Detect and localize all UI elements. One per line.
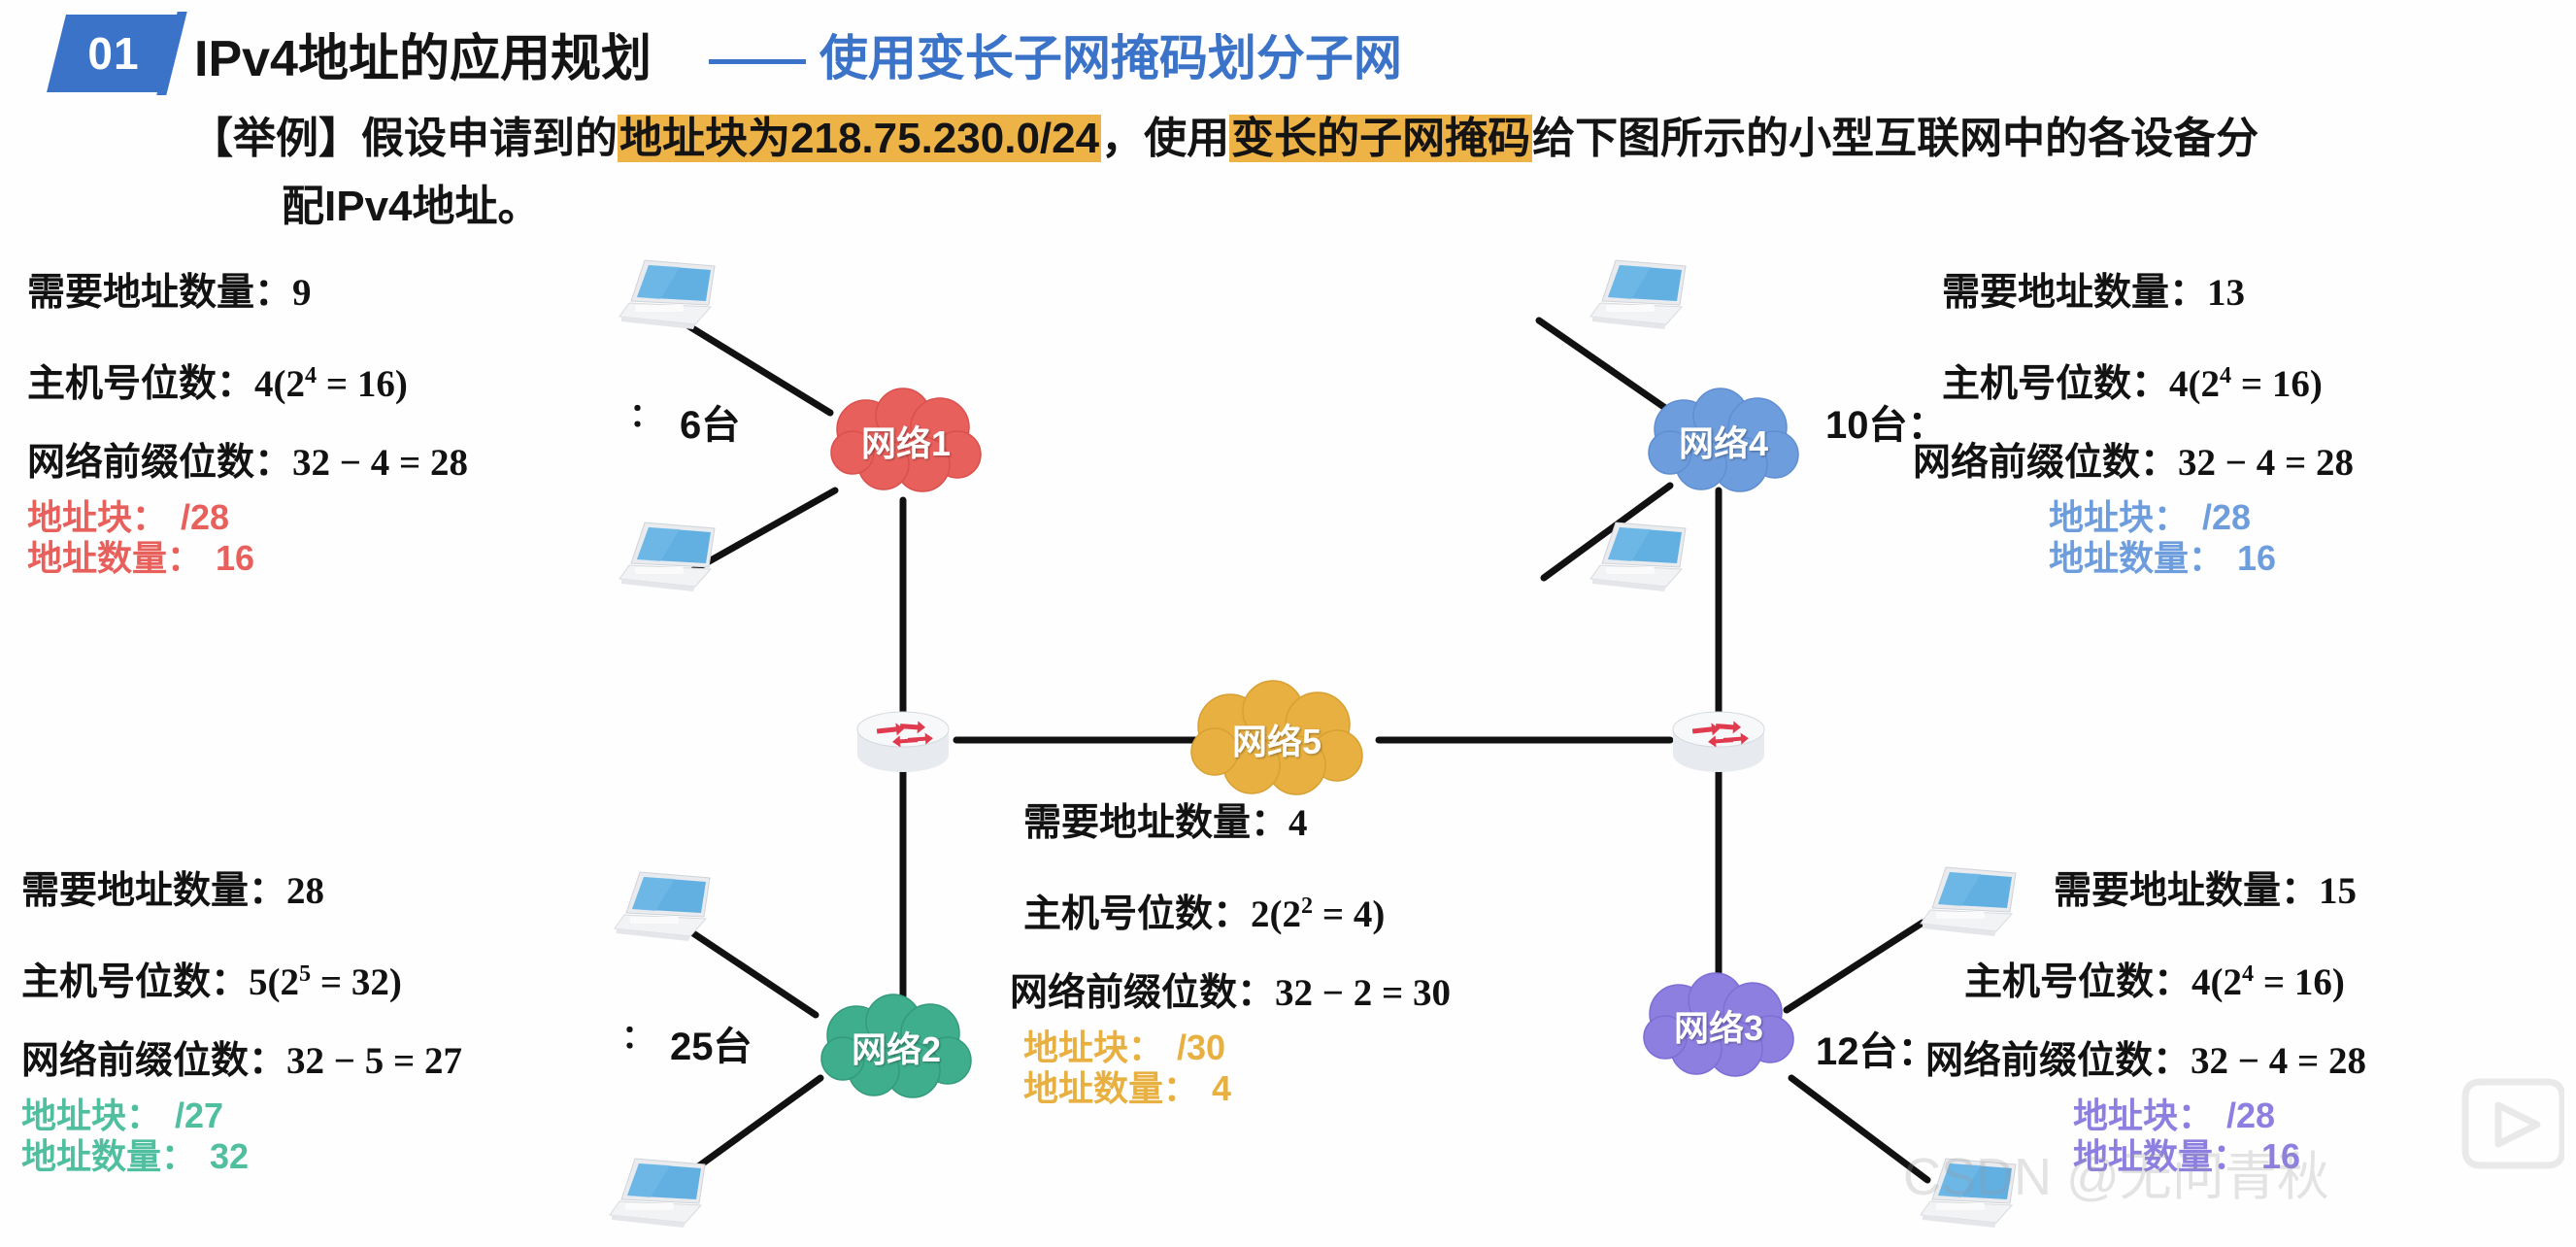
colon-marker-net2: ： xyxy=(621,1010,654,1058)
address-block-group: 地址块：/28 地址数量：16 xyxy=(27,497,468,579)
prefixbits-row: 网络前缀位数：32 − 5 = 27 xyxy=(21,1042,462,1080)
laptop-icon xyxy=(602,505,726,598)
prefixbits-value: 32 − 4 = 28 xyxy=(2191,1040,2366,1082)
network-cloud-label: 网络1 xyxy=(823,387,988,495)
address-block-group: 地址块：/30 地址数量：4 xyxy=(1023,1028,1451,1109)
need-value: 9 xyxy=(292,272,312,314)
host-count-net2: 25台 xyxy=(670,1015,753,1071)
need-label: 需要地址数量： xyxy=(1023,802,1288,844)
address-block-label: 地址块： xyxy=(2073,1095,2213,1135)
hostbits-label: 主机号位数： xyxy=(27,363,254,405)
laptop-icon xyxy=(597,855,721,948)
address-count-row: 地址数量：4 xyxy=(1023,1068,1451,1109)
need-value: 4 xyxy=(1288,802,1308,844)
address-count-value: 16 xyxy=(216,538,254,578)
hostbits-value: 4(2 xyxy=(254,363,305,405)
prefixbits-row: 网络前缀位数：32 − 4 = 28 xyxy=(1913,444,2354,482)
address-count-row: 地址数量：16 xyxy=(2049,538,2354,579)
network-cloud-label: 网络2 xyxy=(814,993,979,1101)
laptop-icon xyxy=(592,1141,717,1234)
prefixbits-value: 32 − 4 = 28 xyxy=(292,442,468,484)
hostbits-equation: = 16) xyxy=(2254,961,2345,1003)
need-label: 需要地址数量： xyxy=(27,272,292,314)
hostbits-value: 2(2 xyxy=(1251,893,1301,935)
address-count-value: 32 xyxy=(210,1136,249,1176)
address-count-label: 地址数量： xyxy=(27,538,202,578)
hostbits-row: 主机号位数：5(25 = 32) xyxy=(21,962,462,1001)
prefixbits-label: 网络前缀位数： xyxy=(1010,972,1275,1014)
need-label: 需要地址数量： xyxy=(21,870,286,912)
address-block-row: 地址块：/28 xyxy=(2049,497,2354,538)
need-label: 需要地址数量： xyxy=(1942,272,2207,314)
slide-header: 01 IPv4地址的应用规划 —— 使用变长子网掩码划分子网 xyxy=(0,0,2576,105)
prefixbits-value: 32 − 4 = 28 xyxy=(2178,442,2354,484)
example-highlight-vlsm: 变长的子网掩码 xyxy=(1229,115,1532,162)
router-icon xyxy=(850,706,956,776)
need-row: 需要地址数量：13 xyxy=(1942,274,2354,312)
laptop-icon xyxy=(602,243,726,336)
hostbits-equation: = 16) xyxy=(2231,363,2323,405)
network-cloud-label: 网络4 xyxy=(1641,387,1806,495)
watermark-text: CSDN @无问青秋 xyxy=(1903,1133,2329,1210)
host-count-net4: 10台： xyxy=(1825,393,1947,450)
network-cloud-net5: 网络5 xyxy=(1180,680,1374,798)
hostbits-exponent: 4 xyxy=(2242,961,2254,987)
example-prefix: 【举例】假设申请到的 xyxy=(190,115,618,162)
laptop-icon xyxy=(1573,243,1697,336)
hostbits-label: 主机号位数： xyxy=(1942,363,2169,405)
hostbits-exponent: 2 xyxy=(1301,893,1313,919)
hostbits-row: 主机号位数：2(22 = 4) xyxy=(1023,894,1451,933)
hostbits-value: 4(2 xyxy=(2191,961,2242,1003)
network-cloud-label: 网络5 xyxy=(1180,680,1374,798)
prefixbits-value: 32 − 2 = 30 xyxy=(1275,972,1451,1014)
need-row: 需要地址数量：4 xyxy=(1023,804,1451,842)
hostbits-row: 主机号位数：4(24 = 16) xyxy=(1942,364,2354,403)
address-block-label: 地址块： xyxy=(2049,497,2189,537)
router-icon xyxy=(1665,706,1772,776)
prefixbits-label: 网络前缀位数： xyxy=(27,442,292,484)
address-block-value: /28 xyxy=(181,497,229,537)
slide-canvas: 01 IPv4地址的应用规划 —— 使用变长子网掩码划分子网 【举例】假设申请到… xyxy=(0,0,2576,1247)
hostbits-value: 4(2 xyxy=(2169,363,2220,405)
info-block-net4: 需要地址数量：13 主机号位数：4(24 = 16) 网络前缀位数：32 − 4… xyxy=(1942,274,2354,579)
prefixbits-row: 网络前缀位数：32 − 4 = 28 xyxy=(27,444,468,482)
address-count-row: 地址数量：32 xyxy=(21,1136,462,1177)
address-block-label: 地址块： xyxy=(1023,1028,1163,1067)
info-block-net5: 需要地址数量：4 主机号位数：2(22 = 4) 网络前缀位数：32 − 2 =… xyxy=(1010,804,1451,1109)
need-row: 需要地址数量：9 xyxy=(27,274,468,312)
info-block-net2: 需要地址数量：28 主机号位数：5(25 = 32) 网络前缀位数：32 − 5… xyxy=(21,872,462,1177)
example-tail: 给下图所示的小型互联网中的各设备分 xyxy=(1532,115,2258,162)
hostbits-value: 5(2 xyxy=(249,961,299,1003)
hostbits-row: 主机号位数：4(24 = 16) xyxy=(27,364,468,403)
prefixbits-row: 网络前缀位数：32 − 2 = 30 xyxy=(1010,974,1451,1012)
example-paragraph: 【举例】假设申请到的地址块为218.75.230.0/24，使用变长的子网掩码给… xyxy=(190,109,2424,169)
prefixbits-label: 网络前缀位数： xyxy=(1925,1040,2191,1082)
hostbits-equation: = 16) xyxy=(317,363,408,405)
example-highlight-address: 地址块为218.75.230.0/24 xyxy=(618,115,1101,162)
address-block-group: 地址块：/27 地址数量：32 xyxy=(21,1095,462,1177)
network-cloud-label: 网络3 xyxy=(1636,971,1801,1080)
hostbits-exponent: 4 xyxy=(2220,362,2231,388)
address-block-value: /28 xyxy=(2226,1095,2275,1135)
address-block-label: 地址块： xyxy=(27,497,167,537)
hostbits-label: 主机号位数： xyxy=(21,961,249,1003)
need-row: 需要地址数量：15 xyxy=(2054,872,2366,910)
need-value: 13 xyxy=(2207,272,2245,314)
address-block-group: 地址块：/28 地址数量：16 xyxy=(2049,497,2354,579)
example-mid: ，使用 xyxy=(1101,115,1229,162)
hostbits-equation: = 32) xyxy=(311,961,402,1003)
address-count-value: 16 xyxy=(2237,538,2276,578)
address-count-label: 地址数量： xyxy=(1023,1068,1198,1108)
prefixbits-label: 网络前缀位数： xyxy=(21,1040,286,1082)
host-count-net1: 6台 xyxy=(680,393,740,450)
info-block-net3: 需要地址数量：15 主机号位数：4(24 = 16) 网络前缀位数：32 − 4… xyxy=(1947,872,2366,1177)
address-block-value: /27 xyxy=(175,1095,223,1135)
need-row: 需要地址数量：28 xyxy=(21,872,462,910)
hostbits-label: 主机号位数： xyxy=(1964,961,2191,1003)
prefixbits-row: 网络前缀位数：32 − 4 = 28 xyxy=(1925,1042,2366,1080)
address-block-value: /28 xyxy=(2202,497,2251,537)
page-subtitle: —— 使用变长子网掩码划分子网 xyxy=(709,19,1402,89)
info-block-net1: 需要地址数量：9 主机号位数：4(24 = 16) 网络前缀位数：32 − 4 … xyxy=(27,274,468,579)
address-block-row: 地址块：/28 xyxy=(27,497,468,538)
address-block-row: 地址块：/28 xyxy=(2073,1095,2366,1136)
address-count-label: 地址数量： xyxy=(21,1136,196,1176)
address-count-label: 地址数量： xyxy=(2049,538,2224,578)
hostbits-exponent: 4 xyxy=(305,362,317,388)
need-label: 需要地址数量： xyxy=(2054,870,2319,912)
address-block-row: 地址块：/27 xyxy=(21,1095,462,1136)
need-value: 28 xyxy=(286,870,324,912)
section-badge-number: 01 xyxy=(56,15,171,92)
hostbits-label: 主机号位数： xyxy=(1023,893,1251,935)
example-paragraph-line2: 配IPv4地址。 xyxy=(282,171,541,233)
prefixbits-value: 32 − 5 = 27 xyxy=(286,1040,462,1082)
csdn-logo-icon xyxy=(2448,1068,2564,1185)
colon-marker-net1: ： xyxy=(629,388,662,436)
address-block-row: 地址块：/30 xyxy=(1023,1028,1451,1068)
address-block-value: /30 xyxy=(1177,1028,1225,1067)
laptop-icon xyxy=(1573,505,1697,598)
page-title: IPv4地址的应用规划 xyxy=(194,17,652,90)
hostbits-equation: = 4) xyxy=(1313,893,1385,935)
network-cloud-net1: 网络1 xyxy=(823,387,988,495)
host-count-net3: 12台： xyxy=(1816,1020,1937,1076)
address-count-row: 地址数量：16 xyxy=(27,538,468,579)
hostbits-row: 主机号位数：4(24 = 16) xyxy=(1964,962,2366,1001)
prefixbits-label: 网络前缀位数： xyxy=(1913,442,2178,484)
need-value: 15 xyxy=(2319,870,2357,912)
network-cloud-net4: 网络4 xyxy=(1641,387,1806,495)
network-cloud-net2: 网络2 xyxy=(814,993,979,1101)
address-block-label: 地址块： xyxy=(21,1095,161,1135)
hostbits-exponent: 5 xyxy=(299,961,311,987)
address-count-value: 4 xyxy=(1212,1068,1231,1108)
network-cloud-net3: 网络3 xyxy=(1636,971,1801,1080)
